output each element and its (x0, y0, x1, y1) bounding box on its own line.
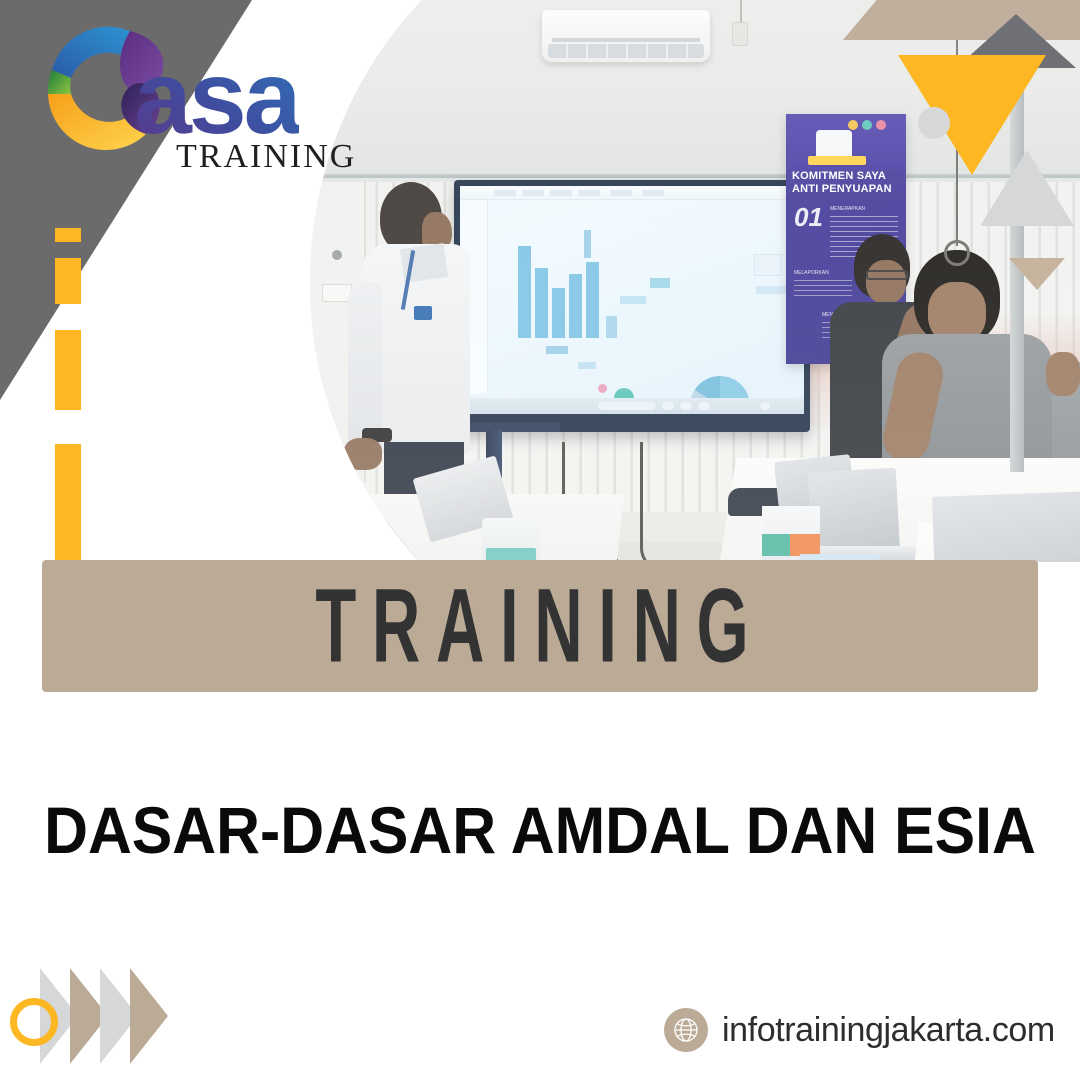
chevron-arrow-icon-4 (130, 968, 168, 1064)
brand-logo: asa TRAINING (34, 16, 354, 166)
poster-canvas: KOMITMEN SAYA ANTI PENYUAPAN 01 MENERAPK… (0, 0, 1080, 1080)
light-gray-triangle-up-shape (980, 150, 1074, 226)
logo-wordmark: asa (134, 46, 299, 150)
yellow-accent-bar-3 (55, 330, 81, 410)
yellow-ring-accent (10, 998, 58, 1046)
tan-triangle-down-shape (1009, 258, 1065, 290)
logo-tagline: TRAINING (176, 138, 356, 176)
page-title: DASAR-DASAR AMDAL DAN ESIA (43, 792, 1037, 868)
training-banner: TRAINING (42, 560, 1038, 692)
yellow-accent-bar-1 (55, 228, 81, 242)
gray-circle-shape (918, 107, 950, 139)
yellow-accent-bar-2 (55, 258, 81, 304)
website-footer[interactable]: infotrainingjakarta.com (664, 1008, 1055, 1052)
website-url[interactable]: infotrainingjakarta.com (722, 1011, 1055, 1050)
training-banner-label: TRAINING (315, 566, 764, 687)
globe-icon (664, 1008, 708, 1052)
